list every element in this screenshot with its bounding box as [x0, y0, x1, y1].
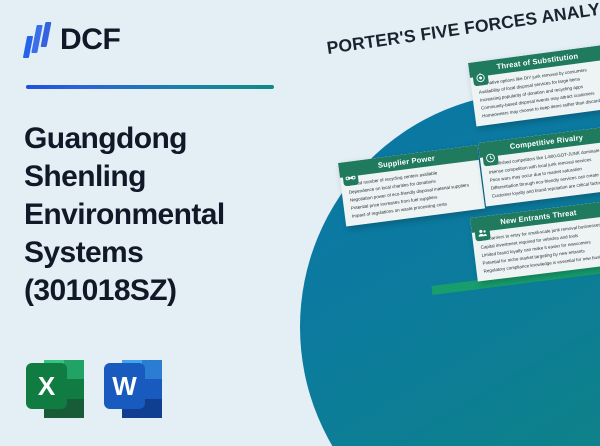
- word-file-icon[interactable]: W: [104, 357, 162, 421]
- title-line-4: Systems: [24, 234, 292, 272]
- excel-file-icon[interactable]: X: [26, 357, 84, 421]
- bowtie-link-icon: [342, 170, 359, 187]
- brand-name: DCF: [60, 25, 120, 55]
- clock-icon: [482, 150, 499, 167]
- title-line-3: Environmental: [24, 196, 292, 234]
- download-icons: X W: [26, 357, 162, 421]
- dcf-bars-logo-icon: [25, 22, 51, 58]
- recycle-circle-icon: [472, 70, 489, 87]
- title-line-1: Guangdong: [24, 120, 292, 158]
- excel-letter: X: [26, 363, 67, 409]
- header-divider: [26, 85, 274, 89]
- title-line-2: Shenling: [24, 158, 292, 196]
- page-title: Guangdong Shenling Environmental Systems…: [24, 120, 292, 310]
- word-letter: W: [104, 363, 145, 409]
- slide-canvas: DCF Guangdong Shenling Environmental Sys…: [0, 0, 600, 446]
- brand-logo: DCF: [25, 22, 120, 58]
- title-line-5: (301018SZ): [24, 272, 292, 310]
- user-group-icon: [474, 225, 491, 242]
